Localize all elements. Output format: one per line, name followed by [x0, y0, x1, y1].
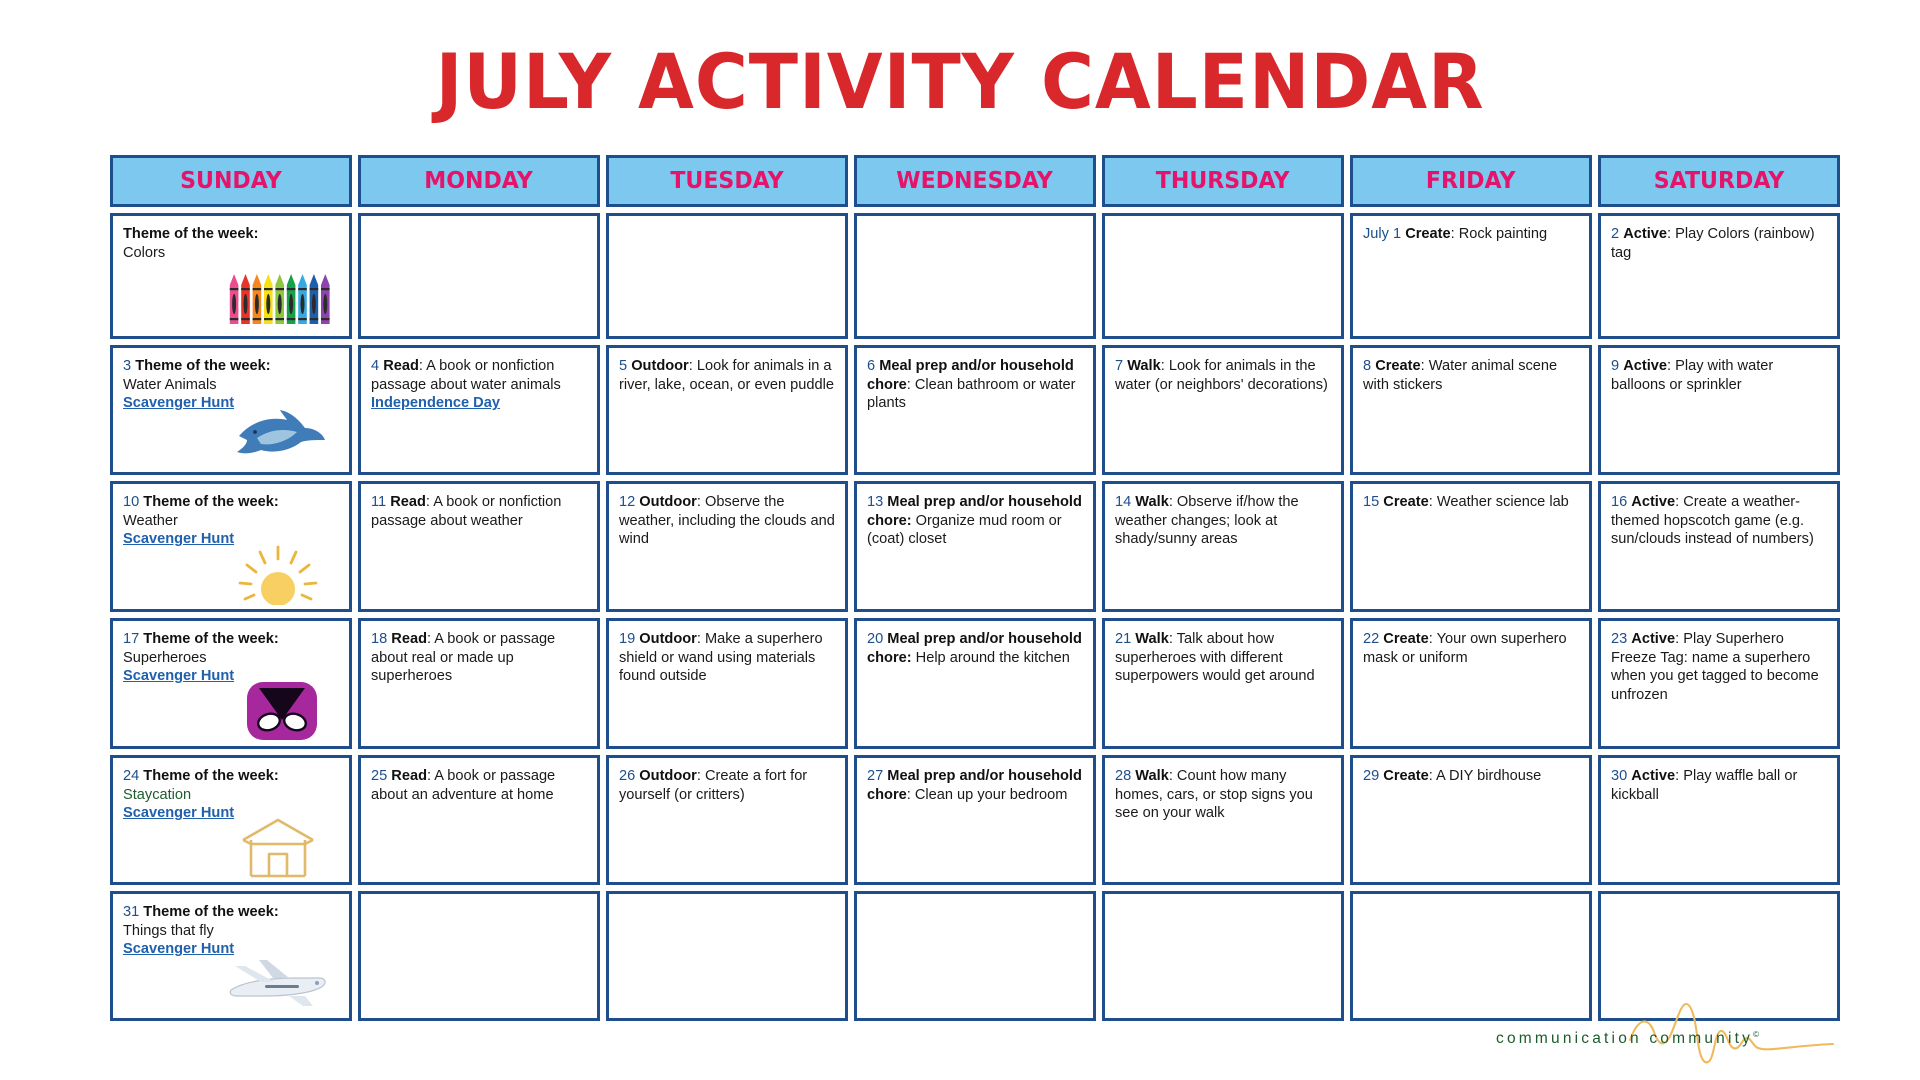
activity-category: Active	[1631, 494, 1675, 510]
weekday-header-label: SATURDAY	[1654, 168, 1785, 194]
activity-description: : Weather science lab	[1429, 494, 1569, 510]
day-cell[interactable]: 30 Active: Play waffle ball or kickball	[1598, 755, 1840, 885]
activity-category: Active	[1631, 768, 1675, 784]
day-cell[interactable]: Theme of the week:Colors	[110, 213, 352, 339]
day-number: 30	[1611, 768, 1627, 784]
brand-logo-label: communication community	[1496, 1030, 1753, 1047]
day-cell[interactable]: 29 Create: A DIY birdhouse	[1350, 755, 1592, 885]
day-activity: 13 Meal prep and/or household chore: Org…	[867, 494, 1082, 547]
weekday-header-saturday: SATURDAY	[1598, 155, 1840, 207]
day-cell-content: 31 Theme of the week:Things that flyScav…	[123, 903, 340, 959]
weekday-header-tuesday: TUESDAY	[606, 155, 848, 207]
day-activity: 16 Active: Create a weather-themed hopsc…	[1611, 494, 1814, 547]
day-cell[interactable]: 20 Meal prep and/or household chore: Hel…	[854, 618, 1096, 749]
day-number: 16	[1611, 494, 1627, 510]
day-activity: 4 Read: A book or nonfiction passage abo…	[371, 358, 561, 393]
day-activity: 12 Outdoor: Observe the weather, includi…	[619, 494, 835, 547]
day-cell-content: July 1 Create: Rock painting	[1363, 225, 1580, 244]
day-number: 6	[867, 358, 875, 374]
weekday-header-label: WEDNESDAY	[897, 168, 1054, 194]
day-activity: 8 Create: Water animal scene with sticke…	[1363, 358, 1557, 393]
activity-category: Outdoor	[639, 768, 697, 784]
day-cell-content: 8 Create: Water animal scene with sticke…	[1363, 357, 1580, 394]
day-cell-content: Theme of the week:Colors	[123, 225, 340, 262]
day-number: 18	[371, 631, 387, 647]
day-cell[interactable]: 5 Outdoor: Look for animals in a river, …	[606, 345, 848, 475]
day-cell-content: 28 Walk: Count how many homes, cars, or …	[1115, 767, 1332, 823]
day-cell-content: 2 Active: Play Colors (rainbow) tag	[1611, 225, 1828, 262]
dolphin-icon	[235, 410, 327, 462]
day-cell-content: 21 Walk: Talk about how superheroes with…	[1115, 630, 1332, 686]
theme-label: Theme of the week:	[135, 358, 270, 374]
day-cell-content: 30 Active: Play waffle ball or kickball	[1611, 767, 1828, 804]
day-number: 19	[619, 631, 635, 647]
day-activity: 6 Meal prep and/or household chore: Clea…	[867, 358, 1075, 411]
activity-description: : Rock painting	[1451, 226, 1548, 242]
activity-category: Walk	[1135, 494, 1169, 510]
day-number: 11	[371, 494, 386, 510]
day-activity: 20 Meal prep and/or household chore: Hel…	[867, 631, 1082, 666]
day-activity: 26 Outdoor: Create a fort for yourself (…	[619, 768, 807, 803]
activity-category: Create	[1405, 226, 1450, 242]
day-cell[interactable]: 4 Read: A book or nonfiction passage abo…	[358, 345, 600, 475]
activity-category: Outdoor	[639, 631, 697, 647]
day-activity: 27 Meal prep and/or household chore: Cle…	[867, 768, 1082, 803]
calendar-grid: SUNDAY MONDAY TUESDAY WEDNESDAY THURSDAY…	[110, 155, 1840, 1027]
activity-category: Active	[1623, 358, 1667, 374]
brand-logo-trademark: ©	[1753, 1030, 1759, 1039]
day-activity: 11 Read: A book or nonfiction passage ab…	[371, 494, 561, 529]
calendar-week-row: 24 Theme of the week:StaycationScavenger…	[110, 755, 1840, 885]
day-cell[interactable]: 31 Theme of the week:Things that flyScav…	[110, 891, 352, 1021]
day-activity: 21 Walk: Talk about how superheroes with…	[1115, 631, 1315, 684]
activity-category: Read	[390, 494, 426, 510]
day-cell[interactable]: 10 Theme of the week:WeatherScavenger Hu…	[110, 481, 352, 612]
day-activity: 30 Active: Play waffle ball or kickball	[1611, 768, 1797, 803]
activity-category: Outdoor	[631, 358, 689, 374]
activity-category: Create	[1383, 631, 1428, 647]
day-cell-content: 12 Outdoor: Observe the weather, includi…	[619, 493, 836, 549]
day-number: 7	[1115, 358, 1123, 374]
day-cell-content: 15 Create: Weather science lab	[1363, 493, 1580, 512]
day-cell[interactable]: 12 Outdoor: Observe the weather, includi…	[606, 481, 848, 612]
theme-value: Water Animals	[123, 376, 340, 395]
weekday-header-label: THURSDAY	[1156, 168, 1290, 194]
day-cell-content: 27 Meal prep and/or household chore: Cle…	[867, 767, 1084, 804]
day-number: 29	[1363, 768, 1379, 784]
day-cell[interactable]: 24 Theme of the week:StaycationScavenger…	[110, 755, 352, 885]
weekday-header-label: MONDAY	[425, 168, 534, 194]
day-cell-blank[interactable]	[606, 891, 848, 1021]
activity-category: Walk	[1127, 358, 1161, 374]
theme-value: Weather	[123, 512, 340, 531]
day-number: 4	[371, 358, 379, 374]
day-cell-content: 3 Theme of the week:Water AnimalsScaveng…	[123, 357, 340, 413]
day-cell[interactable]: 25 Read: A book or passage about an adve…	[358, 755, 600, 885]
day-cell-content: 29 Create: A DIY birdhouse	[1363, 767, 1580, 786]
scavenger-hunt-link[interactable]: Scavenger Hunt	[123, 530, 340, 549]
day-cell-content: 7 Walk: Look for animals in the water (o…	[1115, 357, 1332, 394]
day-cell-blank[interactable]	[1102, 891, 1344, 1021]
scavenger-hunt-link[interactable]: Scavenger Hunt	[123, 804, 340, 823]
day-activity: 2 Active: Play Colors (rainbow) tag	[1611, 226, 1815, 261]
day-cell-content: 13 Meal prep and/or household chore: Org…	[867, 493, 1084, 549]
crayons-icon	[225, 270, 333, 332]
day-cell-blank[interactable]	[358, 213, 600, 339]
day-cell-content: 25 Read: A book or passage about an adve…	[371, 767, 588, 804]
day-number: 12	[619, 494, 635, 510]
day-number: 5	[619, 358, 627, 374]
day-cell[interactable]: 2 Active: Play Colors (rainbow) tag	[1598, 213, 1840, 339]
brand-logo: communication community©	[1496, 996, 1868, 1058]
day-cell[interactable]: 3 Theme of the week:Water AnimalsScaveng…	[110, 345, 352, 475]
day-number: 22	[1363, 631, 1379, 647]
day-cell-content: 10 Theme of the week:WeatherScavenger Hu…	[123, 493, 340, 549]
day-number: 27	[867, 768, 883, 784]
theme-label: Theme of the week:	[123, 226, 258, 242]
weekday-header-sunday: SUNDAY	[110, 155, 352, 207]
day-number: 24	[123, 768, 139, 784]
day-cell-blank[interactable]	[854, 213, 1096, 339]
day-activity: 22 Create: Your own superhero mask or un…	[1363, 631, 1567, 666]
house-icon	[235, 818, 321, 880]
day-cell[interactable]: 28 Walk: Count how many homes, cars, or …	[1102, 755, 1344, 885]
day-number: 3	[123, 358, 131, 374]
activity-description: Help around the kitchen	[912, 650, 1070, 666]
day-cell-blank[interactable]	[1102, 213, 1344, 339]
day-activity: 19 Outdoor: Make a superhero shield or w…	[619, 631, 823, 684]
theme-value: Superheroes	[123, 649, 340, 668]
day-activity: 9 Active: Play with water balloons or sp…	[1611, 358, 1773, 393]
weekday-header-thursday: THURSDAY	[1102, 155, 1344, 207]
activity-category: Read	[391, 631, 427, 647]
day-cell[interactable]: 26 Outdoor: Create a fort for yourself (…	[606, 755, 848, 885]
day-cell[interactable]: 22 Create: Your own superhero mask or un…	[1350, 618, 1592, 749]
day-number: 2	[1611, 226, 1619, 242]
day-cell-content: 5 Outdoor: Look for animals in a river, …	[619, 357, 836, 394]
day-number: 10	[123, 494, 139, 510]
activity-category: Active	[1631, 631, 1675, 647]
day-activity: 7 Walk: Look for animals in the water (o…	[1115, 358, 1328, 393]
day-activity: 15 Create: Weather science lab	[1363, 494, 1569, 510]
day-activity: 18 Read: A book or passage about real or…	[371, 631, 555, 684]
day-cell-content: 4 Read: A book or nonfiction passage abo…	[371, 357, 588, 413]
day-cell-blank[interactable]	[358, 891, 600, 1021]
day-cell-blank[interactable]	[854, 891, 1096, 1021]
day-cell[interactable]: 21 Walk: Talk about how superheroes with…	[1102, 618, 1344, 749]
day-cell[interactable]: July 1 Create: Rock painting	[1350, 213, 1592, 339]
day-cell-content: 9 Active: Play with water balloons or sp…	[1611, 357, 1828, 394]
day-number: 15	[1363, 494, 1379, 510]
day-cell[interactable]: 16 Active: Create a weather-themed hopsc…	[1598, 481, 1840, 612]
scavenger-hunt-link[interactable]: Scavenger Hunt	[123, 394, 340, 413]
day-cell[interactable]: 7 Walk: Look for animals in the water (o…	[1102, 345, 1344, 475]
scavenger-hunt-link[interactable]: Scavenger Hunt	[123, 940, 340, 959]
day-cell[interactable]: 19 Outdoor: Make a superhero shield or w…	[606, 618, 848, 749]
day-number: 14	[1115, 494, 1131, 510]
day-number: 25	[371, 768, 387, 784]
day-number: 31	[123, 904, 139, 920]
day-cell[interactable]: 23 Active: Play Superhero Freeze Tag: na…	[1598, 618, 1840, 749]
day-cell-blank[interactable]	[606, 213, 848, 339]
day-cell-content: 20 Meal prep and/or household chore: Hel…	[867, 630, 1084, 667]
activity-category: Create	[1375, 358, 1420, 374]
activity-category: Walk	[1135, 631, 1169, 647]
holiday-link[interactable]: Independence Day	[371, 394, 588, 413]
activity-category: Read	[383, 358, 419, 374]
calendar-week-row: 10 Theme of the week:WeatherScavenger Hu…	[110, 481, 1840, 612]
day-number: 21	[1115, 631, 1131, 647]
sun-icon	[235, 543, 321, 605]
weekday-header-monday: MONDAY	[358, 155, 600, 207]
calendar-week-row: 17 Theme of the week:SuperheroesScavenge…	[110, 618, 1840, 749]
day-cell-content: 11 Read: A book or nonfiction passage ab…	[371, 493, 588, 530]
day-number: 13	[867, 494, 883, 510]
activity-category: Create	[1383, 494, 1428, 510]
day-number: July 1	[1363, 226, 1401, 242]
day-number: 9	[1611, 358, 1619, 374]
day-cell[interactable]: 13 Meal prep and/or household chore: Org…	[854, 481, 1096, 612]
activity-category: Create	[1383, 768, 1428, 784]
scavenger-hunt-link[interactable]: Scavenger Hunt	[123, 667, 340, 686]
day-activity: 25 Read: A book or passage about an adve…	[371, 768, 555, 803]
day-activity: 29 Create: A DIY birdhouse	[1363, 768, 1541, 784]
day-cell-content: 6 Meal prep and/or household chore: Clea…	[867, 357, 1084, 413]
calendar-week-row: Theme of the week:ColorsJuly 1 Create: R…	[110, 213, 1840, 339]
calendar-weeks: Theme of the week:ColorsJuly 1 Create: R…	[110, 213, 1840, 1021]
day-cell-content: 16 Active: Create a weather-themed hopsc…	[1611, 493, 1828, 549]
day-activity: 23 Active: Play Superhero Freeze Tag: na…	[1611, 631, 1819, 703]
day-cell-content: 23 Active: Play Superhero Freeze Tag: na…	[1611, 630, 1828, 704]
day-activity: 14 Walk: Observe if/how the weather chan…	[1115, 494, 1299, 547]
day-activity: July 1 Create: Rock painting	[1363, 226, 1547, 242]
weekday-header-label: SUNDAY	[180, 168, 282, 194]
day-cell-content: 14 Walk: Observe if/how the weather chan…	[1115, 493, 1332, 549]
day-number: 23	[1611, 631, 1627, 647]
day-activity: 5 Outdoor: Look for animals in a river, …	[619, 358, 834, 393]
day-cell-content: 19 Outdoor: Make a superhero shield or w…	[619, 630, 836, 686]
theme-label: Theme of the week:	[143, 768, 278, 784]
brand-logo-text: communication community©	[1496, 1030, 1759, 1048]
day-cell-content: 22 Create: Your own superhero mask or un…	[1363, 630, 1580, 667]
day-cell-content: 26 Outdoor: Create a fort for yourself (…	[619, 767, 836, 804]
day-cell[interactable]: 14 Walk: Observe if/how the weather chan…	[1102, 481, 1344, 612]
day-cell[interactable]: 11 Read: A book or nonfiction passage ab…	[358, 481, 600, 612]
theme-label: Theme of the week:	[143, 494, 278, 510]
activity-description: : Clean up your bedroom	[907, 787, 1068, 803]
weekday-header-row: SUNDAY MONDAY TUESDAY WEDNESDAY THURSDAY…	[110, 155, 1840, 207]
activity-category: Active	[1623, 226, 1667, 242]
activity-category: Walk	[1135, 768, 1169, 784]
day-cell-content: 24 Theme of the week:StaycationScavenger…	[123, 767, 340, 823]
day-number: 17	[123, 631, 139, 647]
superhero-mask-icon	[245, 680, 319, 742]
airplane-icon	[223, 956, 331, 1010]
weekday-header-friday: FRIDAY	[1350, 155, 1592, 207]
day-cell[interactable]: 27 Meal prep and/or household chore: Cle…	[854, 755, 1096, 885]
theme-label: Theme of the week:	[143, 631, 278, 647]
day-activity: 28 Walk: Count how many homes, cars, or …	[1115, 768, 1313, 821]
theme-value: Colors	[123, 244, 340, 263]
day-cell[interactable]: 9 Active: Play with water balloons or sp…	[1598, 345, 1840, 475]
calendar-week-row: 3 Theme of the week:Water AnimalsScaveng…	[110, 345, 1840, 475]
day-number: 28	[1115, 768, 1131, 784]
day-cell[interactable]: 6 Meal prep and/or household chore: Clea…	[854, 345, 1096, 475]
day-cell[interactable]: 17 Theme of the week:SuperheroesScavenge…	[110, 618, 352, 749]
day-cell-content: 17 Theme of the week:SuperheroesScavenge…	[123, 630, 340, 686]
activity-description: : A DIY birdhouse	[1429, 768, 1542, 784]
activity-category: Outdoor	[639, 494, 697, 510]
day-number: 26	[619, 768, 635, 784]
day-number: 20	[867, 631, 883, 647]
weekday-header-wednesday: WEDNESDAY	[854, 155, 1096, 207]
weekday-header-label: TUESDAY	[670, 168, 783, 194]
theme-label: Theme of the week:	[143, 904, 278, 920]
calendar-page: JULY ACTIVITY CALENDAR SUNDAY MONDAY TUE…	[0, 0, 1920, 1080]
page-title: JULY ACTIVITY CALENDAR	[436, 42, 1485, 122]
weekday-header-label: FRIDAY	[1426, 168, 1516, 194]
day-number: 8	[1363, 358, 1371, 374]
day-cell[interactable]: 8 Create: Water animal scene with sticke…	[1350, 345, 1592, 475]
day-cell[interactable]: 18 Read: A book or passage about real or…	[358, 618, 600, 749]
theme-value: Things that fly	[123, 922, 340, 941]
day-cell-content: 18 Read: A book or passage about real or…	[371, 630, 588, 686]
day-cell[interactable]: 15 Create: Weather science lab	[1350, 481, 1592, 612]
theme-value: Staycation	[123, 786, 340, 805]
activity-category: Read	[391, 768, 427, 784]
page-title-container: JULY ACTIVITY CALENDAR	[0, 42, 1920, 122]
